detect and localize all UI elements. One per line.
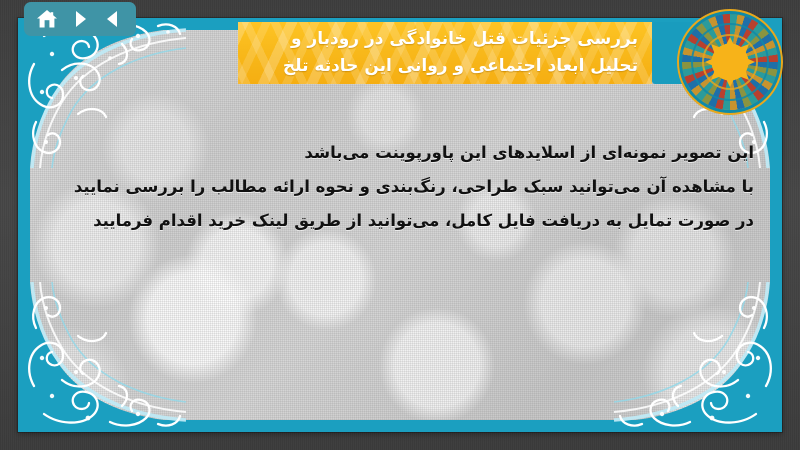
slide-title-line-1: بررسی جزئیات قتل خانوادگی در رودبار و — [248, 26, 638, 53]
title-banner-band: بررسی جزئیات قتل خانوادگی در رودبار و تح… — [238, 22, 652, 84]
body-line-3: در صورت تمایل به دریافت فایل کامل، می‌تو… — [46, 204, 754, 238]
body-line-2: با مشاهده آن می‌توانید سبک طراحی، رنگ‌بن… — [46, 170, 754, 204]
prev-slide-button[interactable] — [100, 6, 126, 32]
next-triangle-icon — [70, 9, 90, 29]
medallion-star-center — [704, 36, 756, 88]
slide-body-text: این تصویر نمونه‌ای از اسلایدهای این پاور… — [46, 136, 754, 238]
next-slide-button[interactable] — [67, 6, 93, 32]
persian-medallion-icon — [682, 14, 778, 110]
slide-title-line-2: تحلیل ابعاد اجتماعی و روانی این حادثه تل… — [248, 53, 638, 80]
body-line-1: این تصویر نمونه‌ای از اسلایدهای این پاور… — [46, 136, 754, 170]
home-button[interactable] — [34, 6, 60, 32]
prev-triangle-icon — [103, 9, 123, 29]
slide-canvas: بررسی جزئیات قتل خانوادگی در رودبار و تح… — [0, 0, 800, 450]
slide-title-banner: بررسی جزئیات قتل خانوادگی در رودبار و تح… — [238, 22, 694, 84]
slide-navigation-bar[interactable] — [24, 2, 136, 36]
home-icon — [36, 9, 58, 29]
